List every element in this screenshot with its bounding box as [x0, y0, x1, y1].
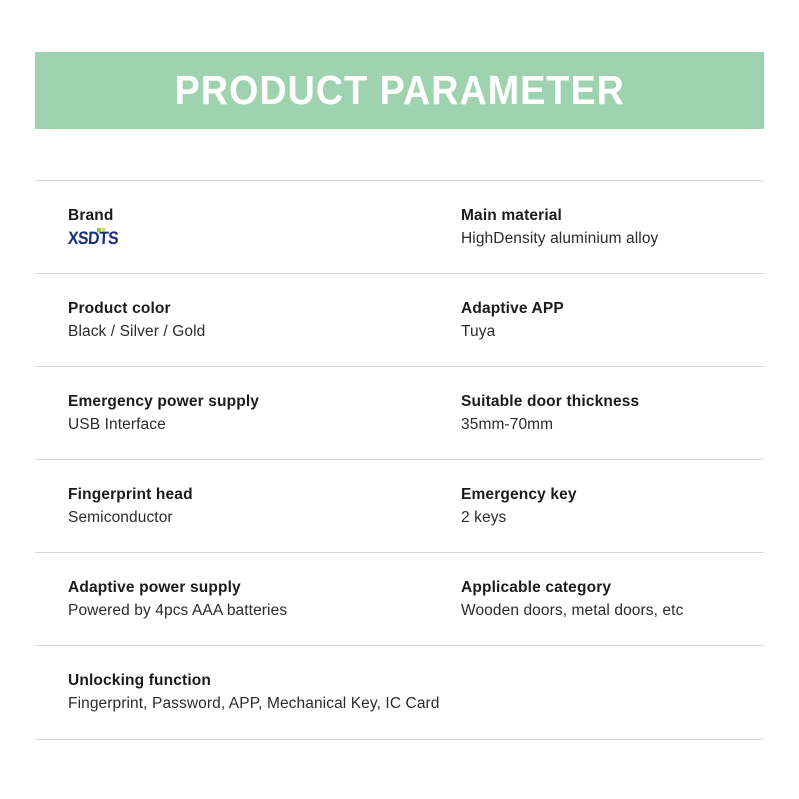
logo-accent-dot-icon [97, 228, 101, 232]
spec-cell-applicable-category: Applicable category Wooden doors, metal … [429, 578, 764, 623]
spec-cell-main-material: Main material HighDensity aluminium allo… [429, 206, 764, 251]
page-title: PRODUCT PARAMETER [174, 70, 624, 111]
spec-value: Black / Silver / Gold [68, 321, 429, 343]
table-row: Adaptive power supply Powered by 4pcs AA… [35, 553, 764, 645]
spec-cell-unlocking-function: Unlocking function Fingerprint, Password… [35, 671, 764, 716]
spec-cell-emergency-power-supply: Emergency power supply USB Interface [35, 392, 429, 437]
spec-value: Wooden doors, metal doors, etc [461, 600, 764, 622]
spec-cell-adaptive-power-supply: Adaptive power supply Powered by 4pcs AA… [35, 578, 429, 623]
spec-label: Suitable door thickness [461, 392, 764, 412]
table-row: Unlocking function Fingerprint, Password… [35, 646, 764, 739]
spec-value: HighDensity aluminium alloy [461, 228, 764, 250]
row-divider [35, 739, 764, 740]
spec-value: Semiconductor [68, 507, 429, 529]
spec-label: Brand [68, 206, 429, 226]
spec-value: Fingerprint, Password, APP, Mechanical K… [68, 693, 764, 715]
specification-table: Brand XSDTS Main material HighDensity al… [35, 180, 764, 740]
spec-value: 35mm-70mm [461, 414, 764, 436]
header-banner: PRODUCT PARAMETER [35, 52, 764, 129]
spec-cell-product-color: Product color Black / Silver / Gold [35, 299, 429, 344]
brand-logo-text: XSDTS [67, 229, 118, 247]
spec-cell-suitable-door-thickness: Suitable door thickness 35mm-70mm [429, 392, 764, 437]
brand-logo: XSDTS [68, 229, 429, 249]
spec-label: Emergency key [461, 485, 764, 505]
spec-cell-fingerprint-head: Fingerprint head Semiconductor [35, 485, 429, 530]
spec-label: Product color [68, 299, 429, 319]
spec-label: Fingerprint head [68, 485, 429, 505]
spec-cell-emergency-key: Emergency key 2 keys [429, 485, 764, 530]
table-row: Emergency power supply USB Interface Sui… [35, 367, 764, 459]
spec-label: Unlocking function [68, 671, 764, 691]
spec-label: Adaptive power supply [68, 578, 429, 598]
table-row: Brand XSDTS Main material HighDensity al… [35, 181, 764, 273]
logo-accent-dot2-icon [102, 228, 105, 231]
table-row: Fingerprint head Semiconductor Emergency… [35, 460, 764, 552]
spec-label: Main material [461, 206, 764, 226]
spec-value: Tuya [461, 321, 764, 343]
spec-value: 2 keys [461, 507, 764, 529]
table-row: Product color Black / Silver / Gold Adap… [35, 274, 764, 366]
spec-label: Adaptive APP [461, 299, 764, 319]
spec-cell-adaptive-app: Adaptive APP Tuya [429, 299, 764, 344]
spec-value: USB Interface [68, 414, 429, 436]
spec-cell-brand: Brand XSDTS [35, 206, 429, 249]
spec-label: Emergency power supply [68, 392, 429, 412]
spec-value: Powered by 4pcs AAA batteries [68, 600, 429, 622]
spec-label: Applicable category [461, 578, 764, 598]
product-parameter-page: PRODUCT PARAMETER Brand XSDTS Main mater… [0, 0, 799, 799]
